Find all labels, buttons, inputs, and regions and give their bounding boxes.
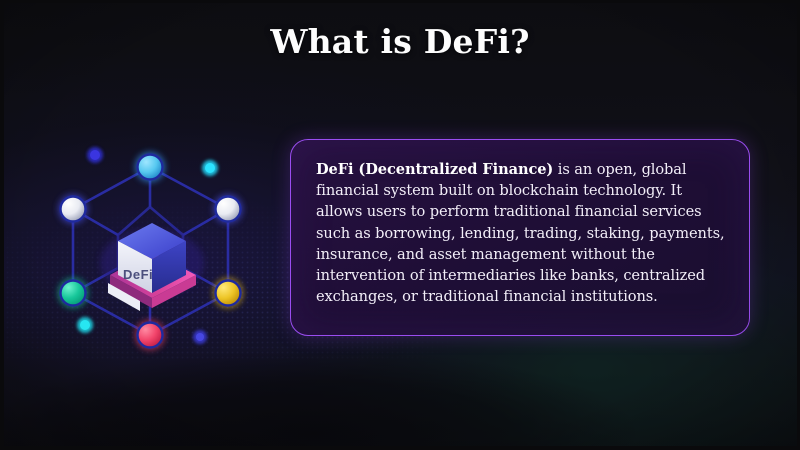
node-bottom <box>138 323 163 348</box>
accent-dot-bottom-left <box>80 320 90 330</box>
definition-card: DeFi (Decentralized Finance) is an open,… <box>290 139 750 336</box>
defi-network-illustration: DeFi <box>40 135 290 350</box>
node-upper-left <box>61 197 86 222</box>
node-lower-left <box>61 281 86 306</box>
cube-label: DeFi <box>123 267 153 282</box>
node-top <box>138 155 163 180</box>
page-title: What is DeFi? <box>0 22 800 61</box>
node-lower-right <box>216 281 241 306</box>
node-upper-right <box>216 197 241 222</box>
definition-text: DeFi (Decentralized Finance) is an open,… <box>316 159 729 308</box>
slide-canvas: What is DeFi? <box>0 0 800 450</box>
definition-rest: is an open, global financial system buil… <box>316 161 725 305</box>
definition-lead: DeFi (Decentralized Finance) <box>316 161 553 178</box>
accent-dot-top-left <box>90 150 100 160</box>
accent-dot-top-right <box>205 163 215 173</box>
accent-dot-bottom-right <box>196 333 204 341</box>
